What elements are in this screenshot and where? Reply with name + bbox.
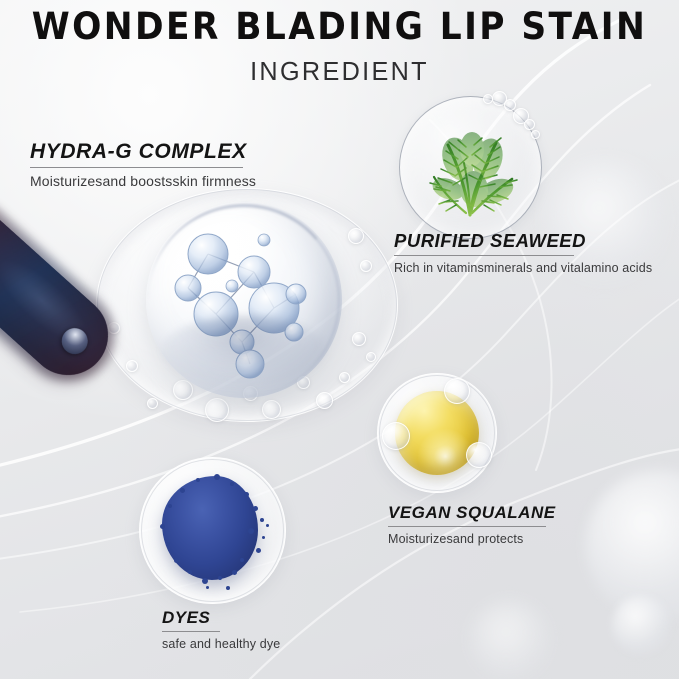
ingredient-description: safe and healthy dye [162,637,280,651]
ingredient-description: Moisturizesand protects [388,532,556,546]
bubble [147,398,158,409]
bubble [382,422,410,450]
ingredient-label-dyes: DYES safe and healthy dye [162,608,280,651]
molecule-icon [146,202,342,398]
ingredient-title: DYES [162,608,280,628]
page-subtitle: INGREDIENT [10,56,669,87]
dyes-petri-dish [139,457,286,604]
ingredient-title: VEGAN SQUALANE [388,503,556,523]
bubble [444,378,470,404]
title-underline [162,631,220,632]
ingredient-title: PURIFIED SEAWEED [394,230,652,252]
applicator-droplet [56,323,93,360]
bokeh-circle [470,600,550,679]
ingredient-description: Moisturizesand boostsskin firmness [30,173,256,189]
title-underline [394,255,574,256]
bokeh-circle [612,596,670,654]
ingredient-label-hydra-g-complex: HYDRA-G COMPLEX Moisturizesand boostsski… [30,140,256,189]
bubble [504,99,516,111]
bubble [531,130,540,139]
title-underline [388,526,546,527]
powder-icon [162,476,258,580]
vegan-squalane-circle [377,373,497,493]
ingredient-label-purified-seaweed: PURIFIED SEAWEED Rich in vitaminsmineral… [394,230,652,275]
bubble [466,442,492,468]
hydra-g-gel-sphere [146,202,342,398]
ingredient-infographic: WONDER BLADING LIP STAIN INGREDIENT [0,0,679,679]
page-title: WONDER BLADING LIP STAIN [24,8,655,47]
ingredient-description: Rich in vitaminsminerals and vitalamino … [394,261,652,275]
purified-seaweed-circle [399,96,542,239]
bubble [483,94,493,104]
ingredient-title: HYDRA-G COMPLEX [30,140,256,164]
bokeh-circle [585,470,679,620]
bubble [524,119,535,130]
title-underline [30,167,243,168]
poster-heading: WONDER BLADING LIP STAIN INGREDIENT [0,8,679,87]
ingredient-label-vegan-squalane: VEGAN SQUALANE Moisturizesand protects [388,503,556,546]
